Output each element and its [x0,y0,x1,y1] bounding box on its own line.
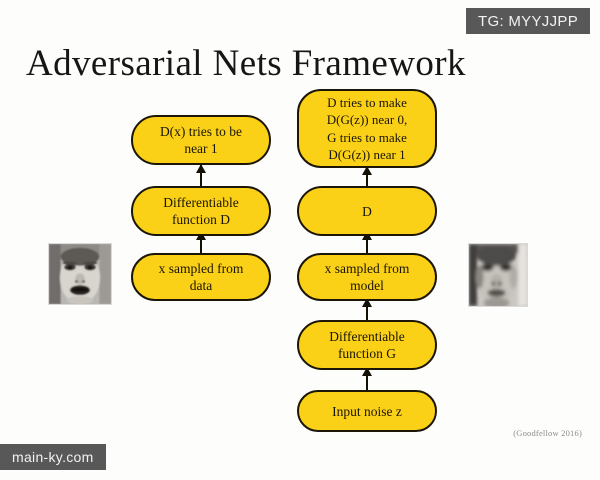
arrow-right-D-to-objective [366,167,368,187]
watermark-top-right: TG: MYYJJPP [466,8,590,34]
node-left-objective: D(x) tries to be near 1 [131,115,271,165]
node-right-objective-line-3: G tries to make [327,129,407,147]
node-right-model-source-line-2: model [350,277,384,294]
node-right-generator: Differentiable function G [297,320,437,370]
watermark-bottom-left: main-ky.com [0,444,106,470]
node-left-objective-line-2: near 1 [184,140,217,157]
node-left-data-source-line-1: x sampled from [159,260,244,277]
real-data-face-image [48,243,112,305]
node-right-input-noise-line-1: Input noise z [332,403,402,420]
generated-model-face-image [468,243,528,307]
node-left-discriminator: Differentiable function D [131,186,271,236]
node-right-model-source: x sampled from model [297,253,437,301]
node-right-generator-line-1: Differentiable [329,328,404,345]
node-left-objective-line-1: D(x) tries to be [160,123,242,140]
arrow-right-noise-to-diffG [366,368,368,391]
slide-canvas: Adversarial Nets Framework TG: MYYJJPP m… [0,0,600,480]
node-right-model-source-line-1: x sampled from [325,260,410,277]
node-left-discriminator-line-1: Differentiable [163,194,238,211]
node-right-input-noise: Input noise z [297,390,437,432]
arrow-left-diffD-to-objective [200,165,202,187]
node-right-discriminator: D [297,186,437,236]
arrow-right-diffG-to-model [366,299,368,321]
node-right-objective-line-4: D(G(z)) near 1 [328,146,405,164]
node-right-objective-line-2: D(G(z)) near 0, [327,111,407,129]
node-right-generator-line-2: function G [338,345,396,362]
node-right-objective-line-1: D tries to make [327,94,407,112]
node-left-discriminator-line-2: function D [172,211,230,228]
page-title: Adversarial Nets Framework [26,42,574,86]
citation-label: (Goodfellow 2016) [513,428,582,438]
node-right-objective: D tries to make D(G(z)) near 0, G tries … [297,89,437,168]
node-right-discriminator-line-1: D [362,203,372,220]
node-left-data-source: x sampled from data [131,253,271,301]
node-left-data-source-line-2: data [190,277,213,294]
